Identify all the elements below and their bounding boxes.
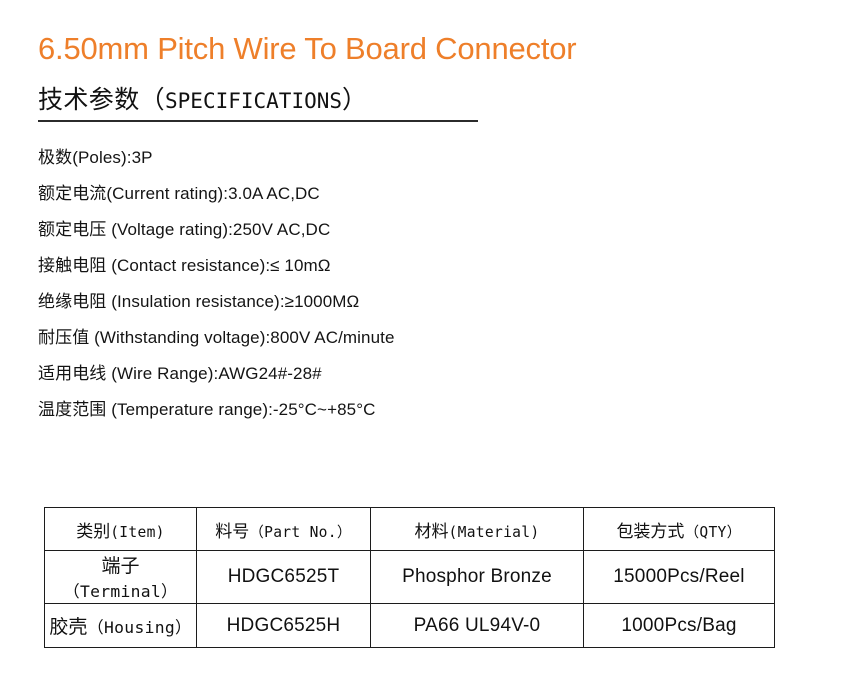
table-cell-item-cjk: 胶壳 [49,617,87,638]
table-cell-qty: 1000Pcs/Bag [584,604,775,648]
table-header-material-latin: (Material) [449,524,540,541]
table-header-material: 材料(Material) [371,508,584,551]
table-cell-material: PA66 UL94V-0 [371,604,584,648]
spec-line: 额定电流(Current rating):3.0A AC,DC [38,176,558,212]
specifications-list: 极数(Poles):3P 额定电流(Current rating):3.0A A… [38,140,558,428]
parts-table: 类别(Item) 料号（Part No.） 材料(Material) 包装方式（… [44,507,775,648]
table-header-row: 类别(Item) 料号（Part No.） 材料(Material) 包装方式（… [45,508,775,551]
table-cell-item-latin: （Housing） [87,618,191,637]
spec-line: 耐压值 (Withstanding voltage):800V AC/minut… [38,320,558,356]
spec-line: 绝缘电阻 (Insulation resistance):≥1000MΩ [38,284,558,320]
datasheet-page: 6.50mm Pitch Wire To Board Connector 技术参… [0,0,860,699]
table-header-item-latin: (Item) [110,524,165,541]
table-row: 端子（Terminal） HDGC6525T Phosphor Bronze 1… [45,551,775,604]
spec-line: 极数(Poles):3P [38,140,558,176]
spec-line: 额定电压 (Voltage rating):250V AC,DC [38,212,558,248]
table-header-material-cjk: 材料 [415,522,449,541]
spec-line: 适用电线 (Wire Range):AWG24#-28# [38,356,558,392]
table-cell-part-no: HDGC6525H [197,604,371,648]
table-header-qty-cjk: 包装方式 [616,522,684,541]
heading-divider [38,120,478,122]
table-header-part-no: 料号（Part No.） [197,508,371,551]
specifications-heading-block: 技术参数（SPECIFICATIONS） [38,84,478,122]
specifications-heading: 技术参数（SPECIFICATIONS） [38,84,478,117]
table-cell-qty: 15000Pcs/Reel [584,551,775,604]
table-header-item: 类别(Item) [45,508,197,551]
table-header-qty: 包装方式（QTY） [584,508,775,551]
table-header-item-cjk: 类别 [76,522,110,541]
table-header-part-no-latin: （Part No.） [249,524,352,541]
table-cell-part-no: HDGC6525T [197,551,371,604]
table-cell-item-latin: （Terminal） [63,582,177,601]
spec-line: 接触电阻 (Contact resistance):≤ 10mΩ [38,248,558,284]
table-header-qty-latin: （QTY） [684,524,741,541]
spec-line: 温度范围 (Temperature range):-25°C~+85°C [38,392,558,428]
specifications-heading-latin: SPECIFICATIONS [165,89,342,113]
table-cell-item: 端子（Terminal） [45,551,197,604]
specifications-heading-close: ） [342,86,367,114]
specifications-heading-cjk: 技术参数（ [38,86,165,114]
table-cell-item: 胶壳（Housing） [45,604,197,648]
table-cell-material: Phosphor Bronze [371,551,584,604]
page-title: 6.50mm Pitch Wire To Board Connector [38,30,576,68]
table-header-part-no-cjk: 料号 [215,522,249,541]
table-cell-item-cjk: 端子 [101,556,139,577]
table-row: 胶壳（Housing） HDGC6525H PA66 UL94V-0 1000P… [45,604,775,648]
